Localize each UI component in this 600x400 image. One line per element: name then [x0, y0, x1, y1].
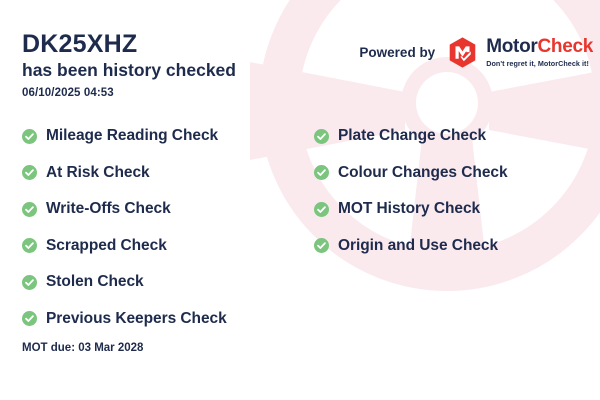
check-item-mot-history: MOT History Check: [314, 191, 582, 228]
header-subtitle: has been history checked: [22, 59, 236, 82]
green-check-circle-icon: [22, 202, 37, 217]
green-check-circle-icon: [314, 238, 329, 253]
check-label: Previous Keepers Check: [46, 310, 227, 328]
history-check-banner: DK25XHZ has been history checked 06/10/2…: [0, 0, 600, 400]
green-check-circle-icon: [314, 129, 329, 144]
green-check-circle-icon: [22, 238, 37, 253]
registration-number: DK25XHZ: [22, 30, 236, 58]
green-check-circle-icon: [22, 311, 37, 326]
check-label: Plate Change Check: [338, 127, 486, 145]
check-item-plate-change: Plate Change Check: [314, 118, 582, 155]
motorcheck-wordmark: MotorCheck Don't regret it, MotorCheck i…: [486, 37, 593, 68]
checks-right-column: Plate Change Check Colour Changes Check …: [314, 118, 582, 337]
mot-due-text: MOT due: 03 Mar 2028: [22, 342, 143, 354]
check-item-stolen: Stolen Check: [22, 264, 314, 301]
check-item-origin-and-use: Origin and Use Check: [314, 228, 582, 265]
green-check-circle-icon: [22, 165, 37, 180]
green-check-circle-icon: [22, 275, 37, 290]
check-item-mileage-reading: Mileage Reading Check: [22, 118, 314, 155]
motorcheck-hexagon-m-icon: [446, 36, 479, 69]
check-label: Mileage Reading Check: [46, 127, 218, 145]
check-label: Colour Changes Check: [338, 164, 508, 182]
green-check-circle-icon: [22, 129, 37, 144]
powered-by-label: Powered by: [359, 45, 435, 60]
header-block: DK25XHZ has been history checked 06/10/2…: [22, 30, 236, 99]
check-item-colour-changes: Colour Changes Check: [314, 155, 582, 192]
checks-left-column: Mileage Reading Check At Risk Check Writ…: [22, 118, 314, 337]
wordmark-check: Check: [537, 36, 593, 57]
checks-grid: Mileage Reading Check At Risk Check Writ…: [22, 118, 582, 337]
check-item-previous-keepers: Previous Keepers Check: [22, 301, 314, 338]
check-item-at-risk: At Risk Check: [22, 155, 314, 192]
check-item-scrapped: Scrapped Check: [22, 228, 314, 265]
wordmark-motor: Motor: [486, 36, 537, 57]
green-check-circle-icon: [314, 202, 329, 217]
check-timestamp: 06/10/2025 04:53: [22, 87, 236, 99]
check-label: At Risk Check: [46, 164, 150, 182]
wordmark-text: MotorCheck: [486, 37, 593, 56]
green-check-circle-icon: [314, 165, 329, 180]
check-item-write-offs: Write-Offs Check: [22, 191, 314, 228]
check-label: MOT History Check: [338, 200, 480, 218]
check-label: Origin and Use Check: [338, 237, 498, 255]
check-label: Stolen Check: [46, 273, 144, 291]
brand-tagline: Don't regret it, MotorCheck it!: [486, 59, 593, 68]
powered-by-motorcheck: Powered by MotorCheck Don't regret it, M…: [359, 36, 593, 69]
check-label: Scrapped Check: [46, 237, 167, 255]
check-label: Write-Offs Check: [46, 200, 171, 218]
